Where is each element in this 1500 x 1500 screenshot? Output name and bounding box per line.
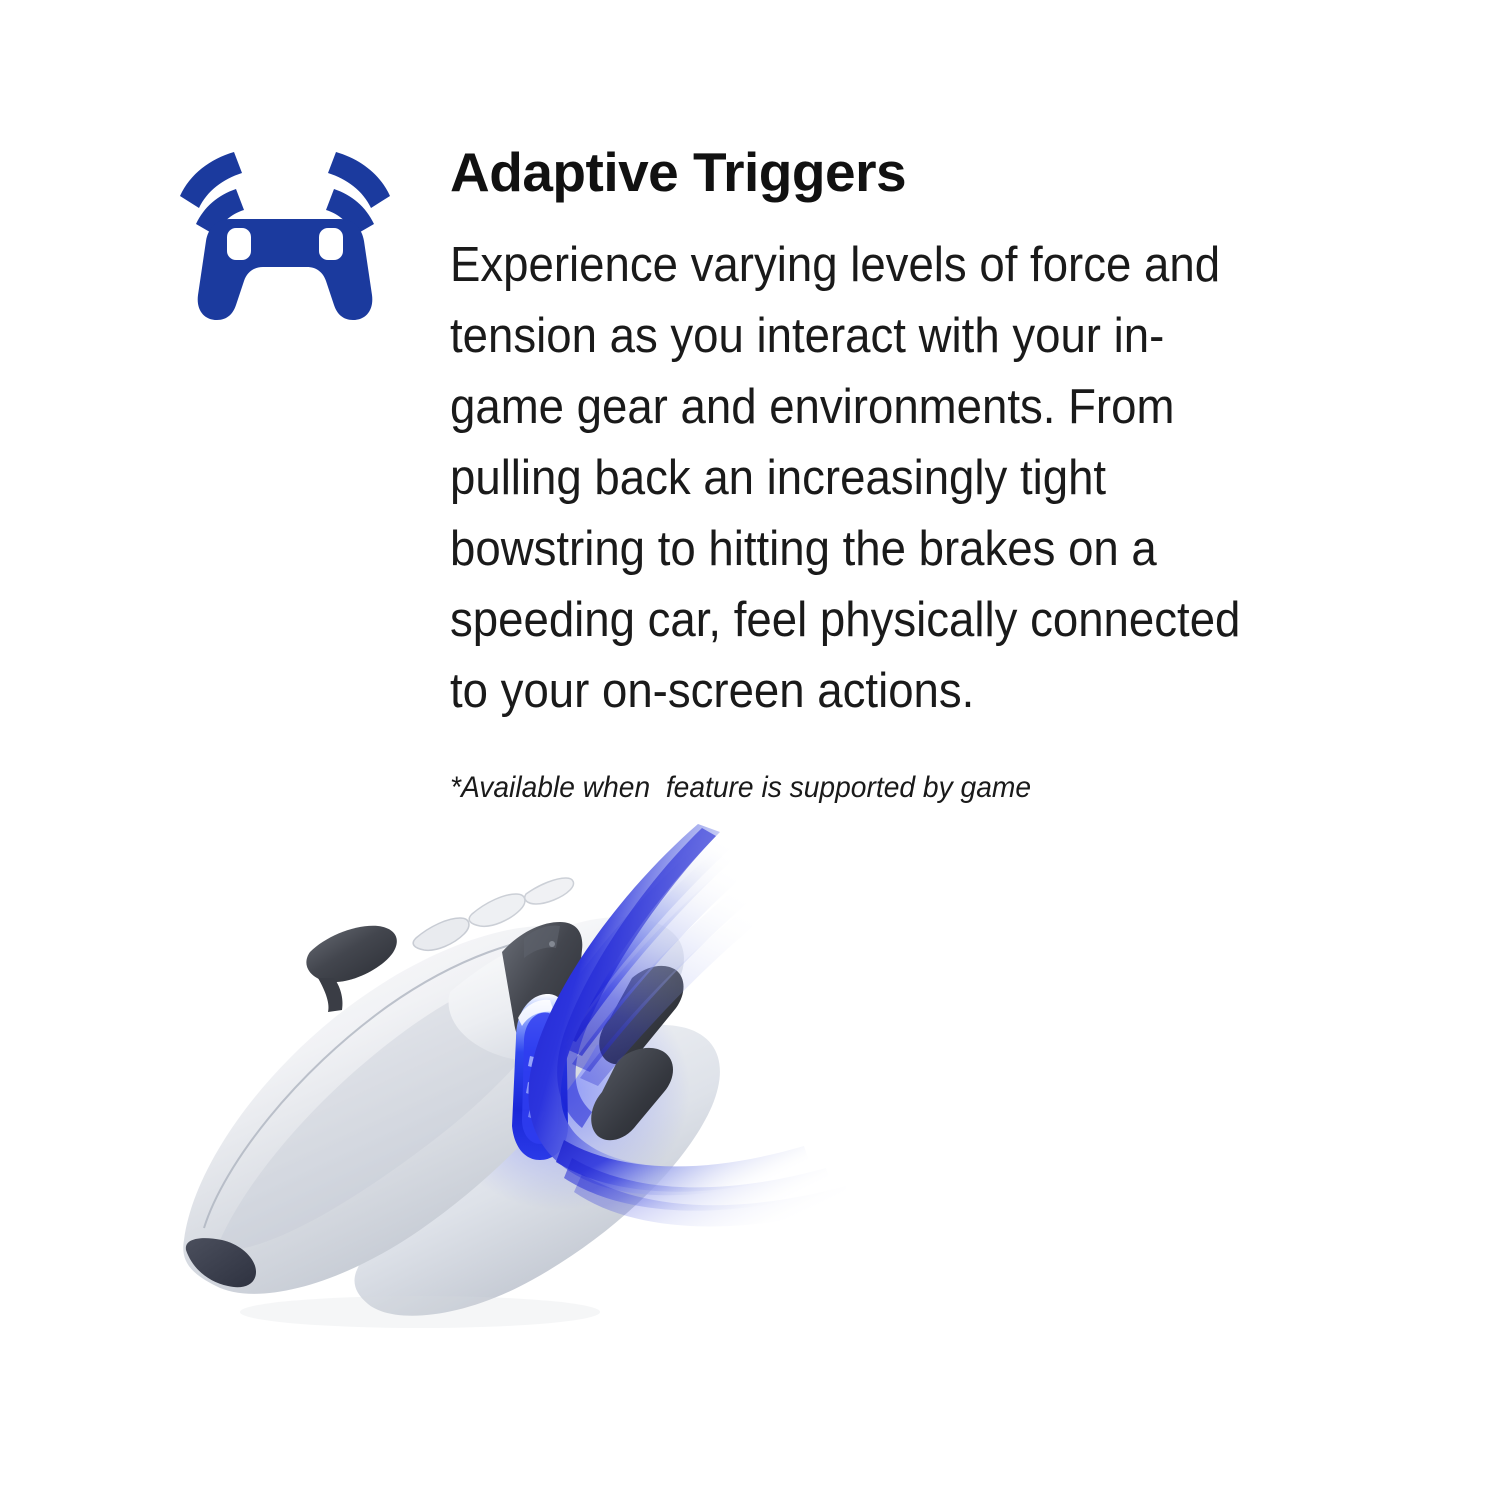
page-title: Adaptive Triggers bbox=[450, 140, 1360, 204]
feature-description: Experience varying levels of force and t… bbox=[450, 230, 1268, 727]
feature-header: Adaptive Triggers Experience varying lev… bbox=[160, 140, 1360, 807]
gamepad-vibration-icon bbox=[160, 140, 410, 323]
feature-footnote: *Available when feature is supported by … bbox=[450, 769, 1305, 807]
adaptive-triggers-feature-card: Adaptive Triggers Experience varying lev… bbox=[0, 0, 1500, 1500]
controller-illustration bbox=[120, 820, 1020, 1380]
feature-text-block: Adaptive Triggers Experience varying lev… bbox=[410, 140, 1360, 807]
